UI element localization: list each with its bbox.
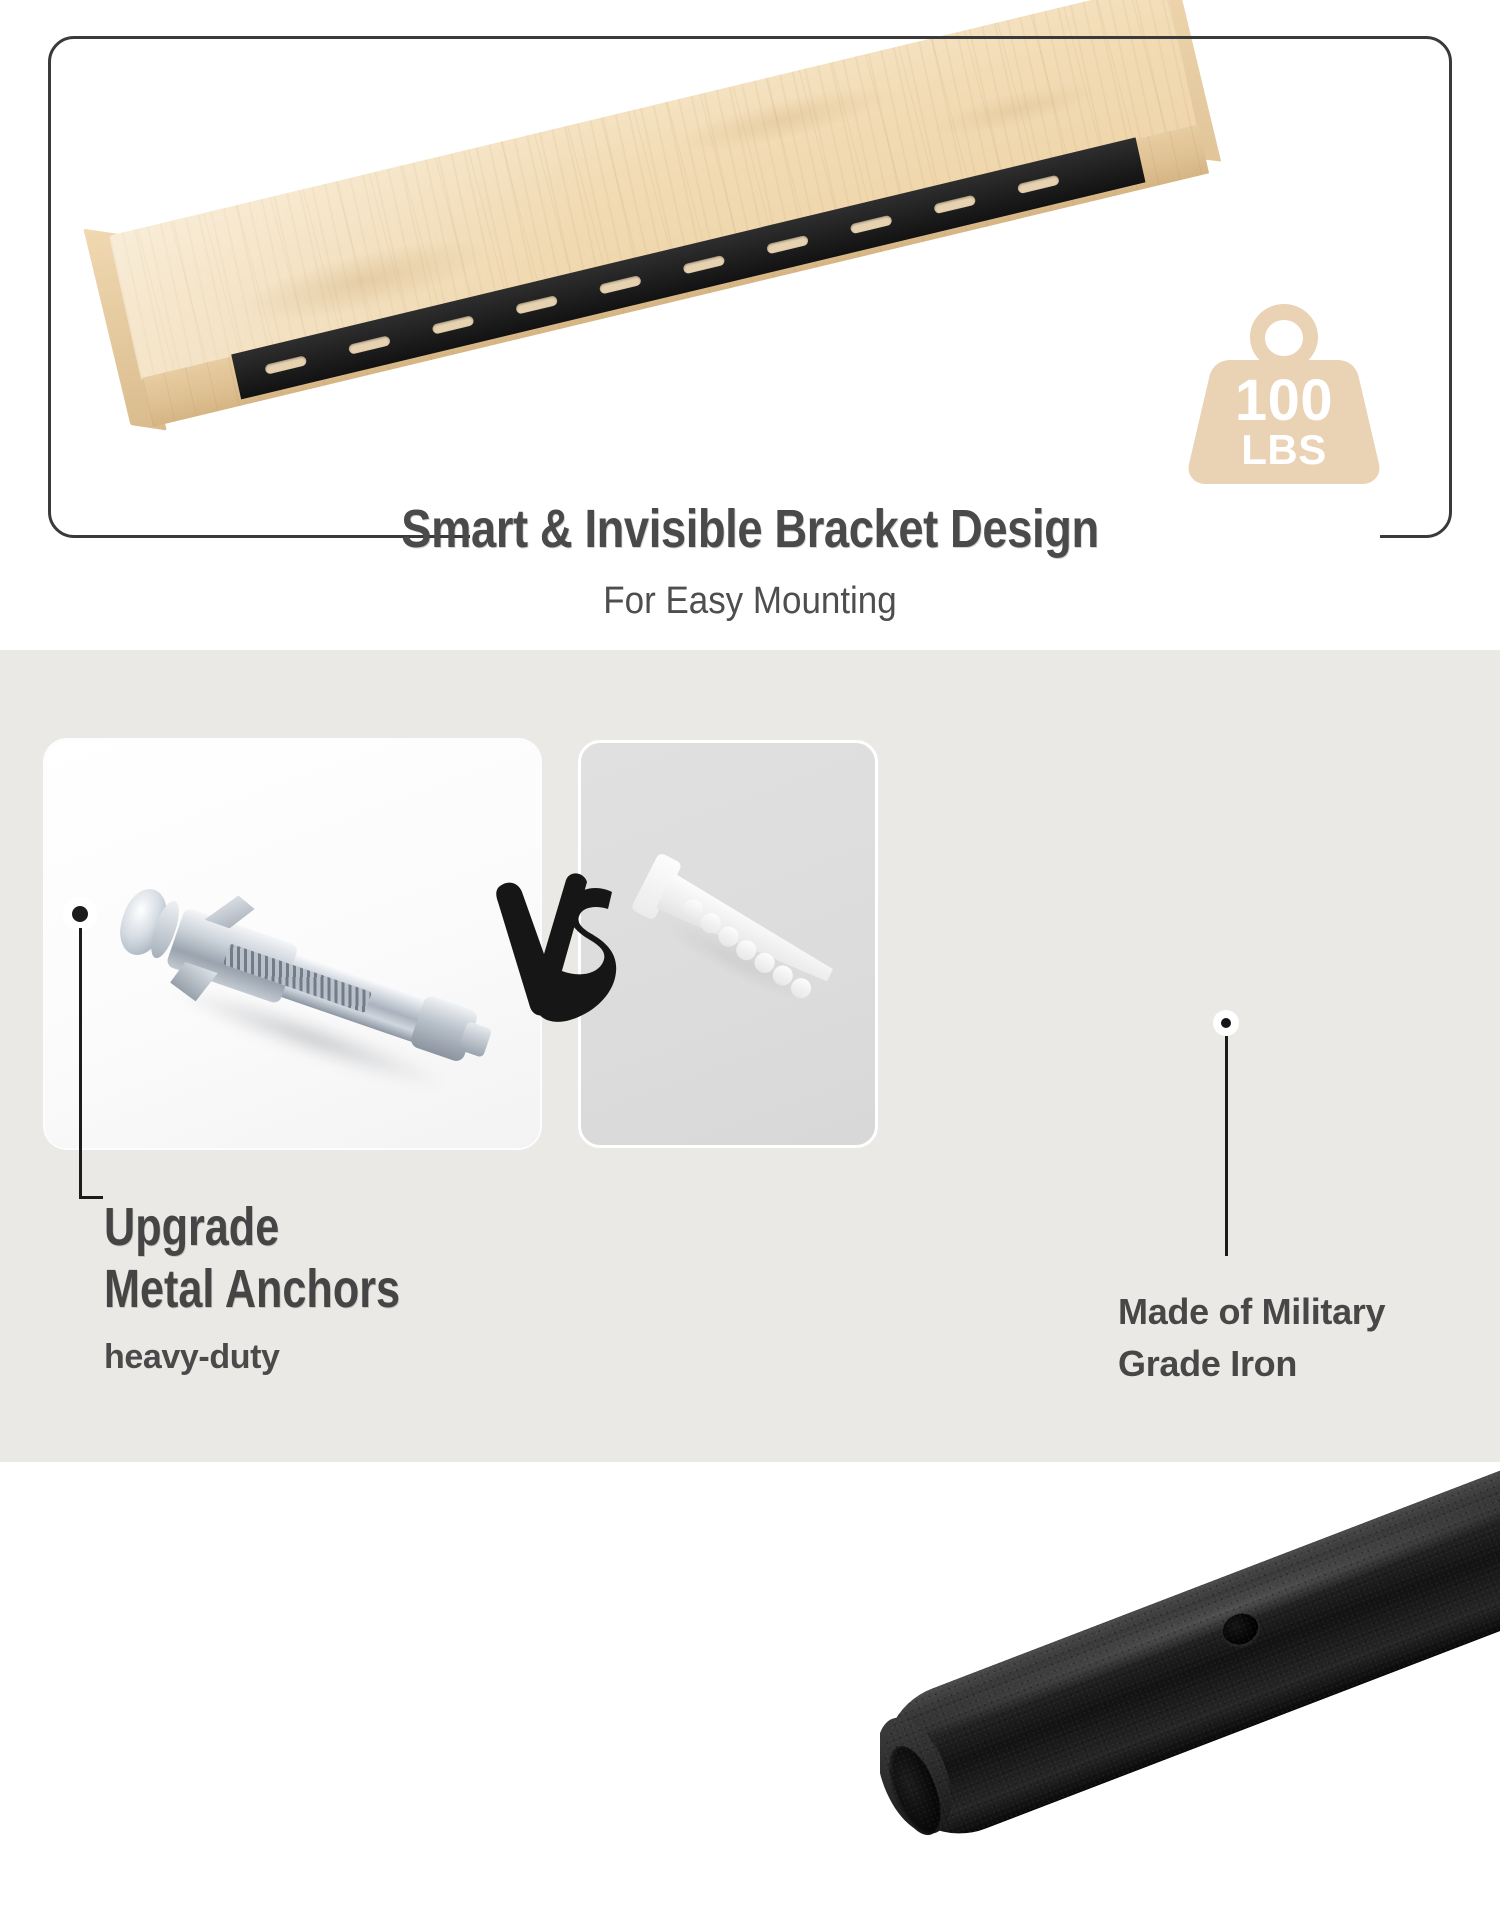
iron-pipe-image xyxy=(880,1410,1500,1930)
metal-anchor-title-line1: Upgrade xyxy=(104,1196,616,1258)
page-title: Smart & Invisible Bracket Design xyxy=(120,498,1380,560)
metal-anchor-callout: Upgrade Metal Anchors heavy-duty xyxy=(104,1196,744,1378)
bracket-slot xyxy=(515,295,558,315)
metal-anchor-leader-tick xyxy=(79,1196,103,1199)
marker-dot xyxy=(1221,1018,1231,1028)
metal-anchor-title-line2: Metal Anchors xyxy=(104,1258,616,1320)
shelf-product-image xyxy=(60,40,1320,500)
bracket-slot xyxy=(348,335,391,355)
bracket-slot xyxy=(264,355,307,375)
iron-pipe-line2: Grade Iron xyxy=(1118,1338,1500,1390)
metal-anchor-marker xyxy=(63,897,97,931)
pipe-screw-hole xyxy=(1218,1609,1262,1650)
vs-icon xyxy=(492,868,642,1033)
iron-pipe-marker xyxy=(1213,1010,1239,1036)
bracket-slot xyxy=(1017,175,1060,195)
iron-pipe-callout: Made of Military Grade Iron xyxy=(1118,1286,1500,1390)
pipe-mouth xyxy=(880,1707,966,1844)
weight-value: 100 xyxy=(1186,372,1382,430)
iron-pipe-leader-line xyxy=(1225,1036,1228,1256)
metal-anchor-card xyxy=(45,740,540,1148)
bracket-slot xyxy=(432,315,475,335)
pipe-body xyxy=(880,1443,1500,1855)
marker-dot xyxy=(72,906,88,922)
bracket-slot xyxy=(766,235,809,255)
metal-anchor-caption: heavy-duty xyxy=(104,1336,744,1378)
weight-capacity-badge: 100 LBS xyxy=(1186,296,1382,486)
pipe-bore xyxy=(880,1739,951,1842)
bracket-slot xyxy=(682,255,725,275)
bracket-slot xyxy=(850,215,893,235)
iron-pipe-line1: Made of Military xyxy=(1118,1286,1500,1338)
weight-unit: LBS xyxy=(1186,429,1382,471)
page-subtitle: For Easy Mounting xyxy=(60,578,1440,624)
bracket-slot xyxy=(599,275,642,295)
metal-anchor-image xyxy=(47,796,528,1153)
bracket-slot xyxy=(933,195,976,215)
metal-anchor-leader-line xyxy=(79,928,82,1196)
hero-section: 100 LBS Smart & Invisible Bracket Design… xyxy=(0,0,1500,650)
